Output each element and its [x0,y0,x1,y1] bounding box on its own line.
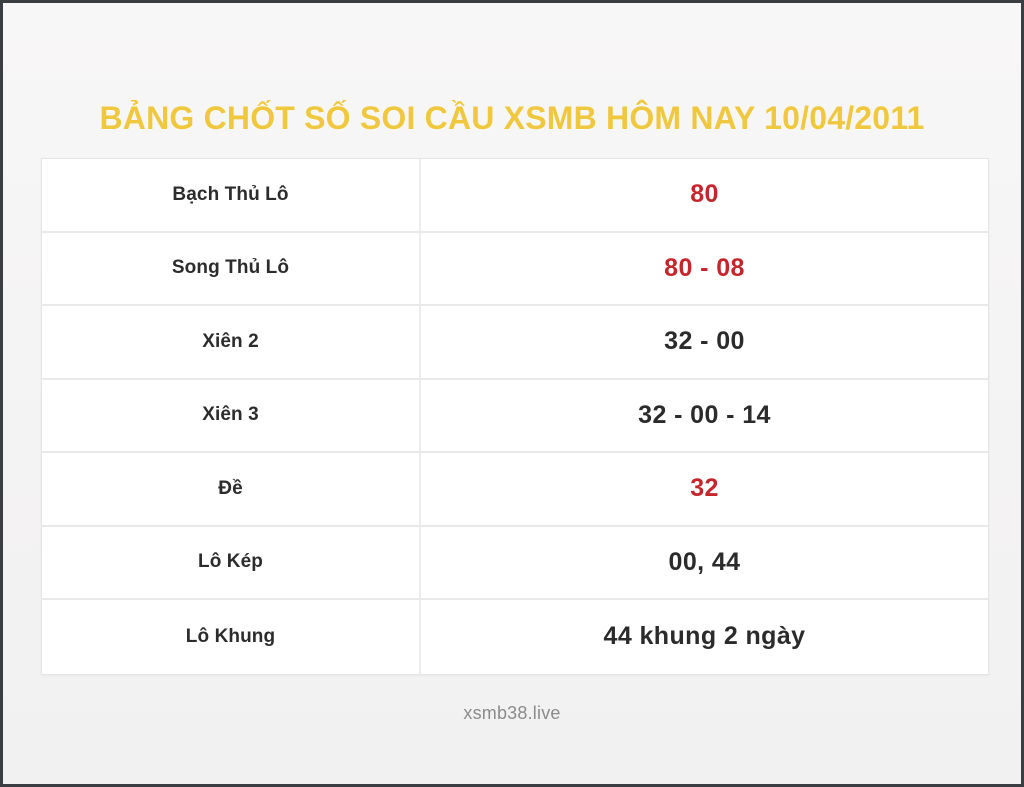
site-watermark: xsmb38.live [463,703,560,723]
table-row: Song Thủ Lô80 - 08 [42,233,988,307]
row-label: Xiên 2 [42,306,421,378]
row-label: Bạch Thủ Lô [42,159,421,231]
row-value: 32 [421,453,988,525]
soi-cau-table: Bạch Thủ Lô80Song Thủ Lô80 - 08Xiên 232 … [41,158,989,675]
page-title-container: BẢNG CHỐT SỐ SOI CẦU XSMB HÔM NAY 10/04/… [3,79,1021,159]
table-row: Bạch Thủ Lô80 [42,159,988,233]
row-label: Lô Khung [42,600,421,674]
page-frame: BẢNG CHỐT SỐ SOI CẦU XSMB HÔM NAY 10/04/… [0,0,1024,787]
row-value: 80 [421,159,988,231]
table-row: Lô Khung44 khung 2 ngày [42,600,988,674]
footer: xsmb38.live [3,703,1021,724]
row-label: Đề [42,453,421,525]
row-label: Lô Kép [42,527,421,599]
row-value: 00, 44 [421,527,988,599]
row-value: 44 khung 2 ngày [421,600,988,674]
table-row: Đề32 [42,453,988,527]
page-title: BẢNG CHỐT SỐ SOI CẦU XSMB HÔM NAY 10/04/… [99,100,924,137]
table-row: Lô Kép00, 44 [42,527,988,601]
row-label: Xiên 3 [42,380,421,452]
table-row: Xiên 332 - 00 - 14 [42,380,988,454]
row-value: 32 - 00 - 14 [421,380,988,452]
table-row: Xiên 232 - 00 [42,306,988,380]
row-value: 32 - 00 [421,306,988,378]
page-canvas: BẢNG CHỐT SỐ SOI CẦU XSMB HÔM NAY 10/04/… [3,3,1021,784]
row-value: 80 - 08 [421,233,988,305]
row-label: Song Thủ Lô [42,233,421,305]
